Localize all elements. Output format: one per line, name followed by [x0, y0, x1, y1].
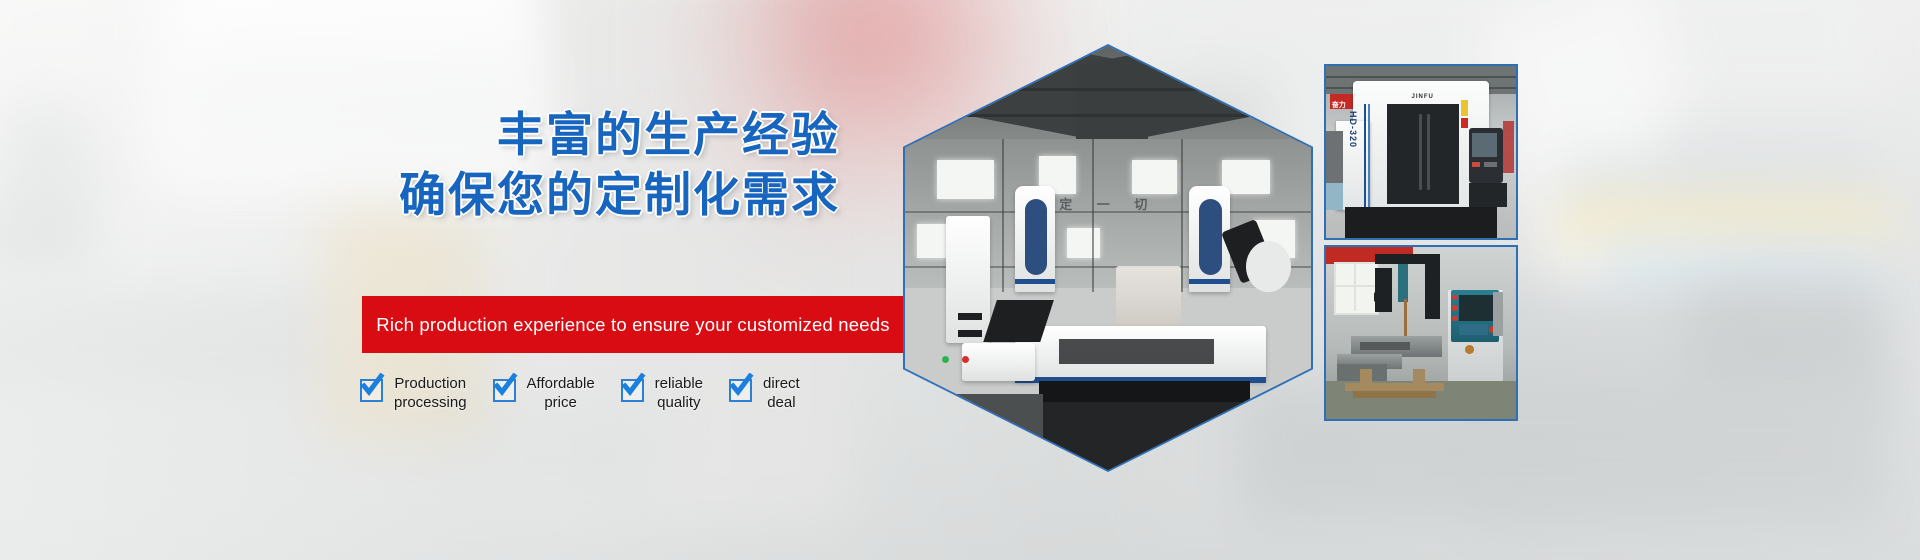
- thumb-machining-center[interactable]: 奋力 HD-320 JINFU: [1324, 64, 1518, 240]
- feature-label-line-2: processing: [394, 394, 467, 411]
- thumb-boring-machine[interactable]: [1324, 245, 1518, 421]
- feature-label: directdeal: [763, 374, 800, 412]
- subtitle-bar: Rich production experience to ensure you…: [362, 296, 904, 353]
- checkbox-checked-icon: [729, 379, 752, 402]
- headline: 丰富的生产经验 确保您的定制化需求: [0, 106, 842, 226]
- hexagon-factory-photo[interactable]: 定 一 切: [903, 44, 1313, 472]
- headline-line-1: 丰富的生产经验: [0, 106, 840, 166]
- hero-banner: 丰富的生产经验 确保您的定制化需求 Rich production experi…: [0, 0, 1920, 560]
- hexagon-photo-content: 定 一 切: [905, 46, 1311, 470]
- checkbox-checked-icon: [493, 379, 516, 402]
- wall-sign-text: 奋力: [1330, 101, 1346, 109]
- feature-label: reliablequality: [655, 374, 703, 412]
- feature-label-line-1: Affordable: [527, 375, 595, 392]
- feature-label-line-2: quality: [657, 394, 700, 411]
- feature-item[interactable]: Affordableprice: [493, 374, 595, 412]
- feature-item[interactable]: directdeal: [729, 374, 800, 412]
- headline-line-2: 确保您的定制化需求: [0, 166, 840, 226]
- feature-label-line-2: price: [544, 394, 577, 411]
- feature-label-line-1: Production: [394, 375, 466, 392]
- feature-list: Productionprocessing Affordableprice rel…: [360, 374, 920, 412]
- feature-item[interactable]: reliablequality: [621, 374, 703, 412]
- feature-label: Productionprocessing: [394, 374, 467, 412]
- machine-model-label: HD-320: [1348, 111, 1358, 148]
- feature-label-line-1: direct: [763, 375, 800, 392]
- subtitle-text: Rich production experience to ensure you…: [376, 314, 889, 336]
- feature-label: Affordableprice: [527, 374, 595, 412]
- checkbox-checked-icon: [621, 379, 644, 402]
- feature-item[interactable]: Productionprocessing: [360, 374, 467, 412]
- feature-label-line-2: deal: [767, 394, 795, 411]
- checkbox-checked-icon: [360, 379, 383, 402]
- feature-label-line-1: reliable: [655, 375, 703, 392]
